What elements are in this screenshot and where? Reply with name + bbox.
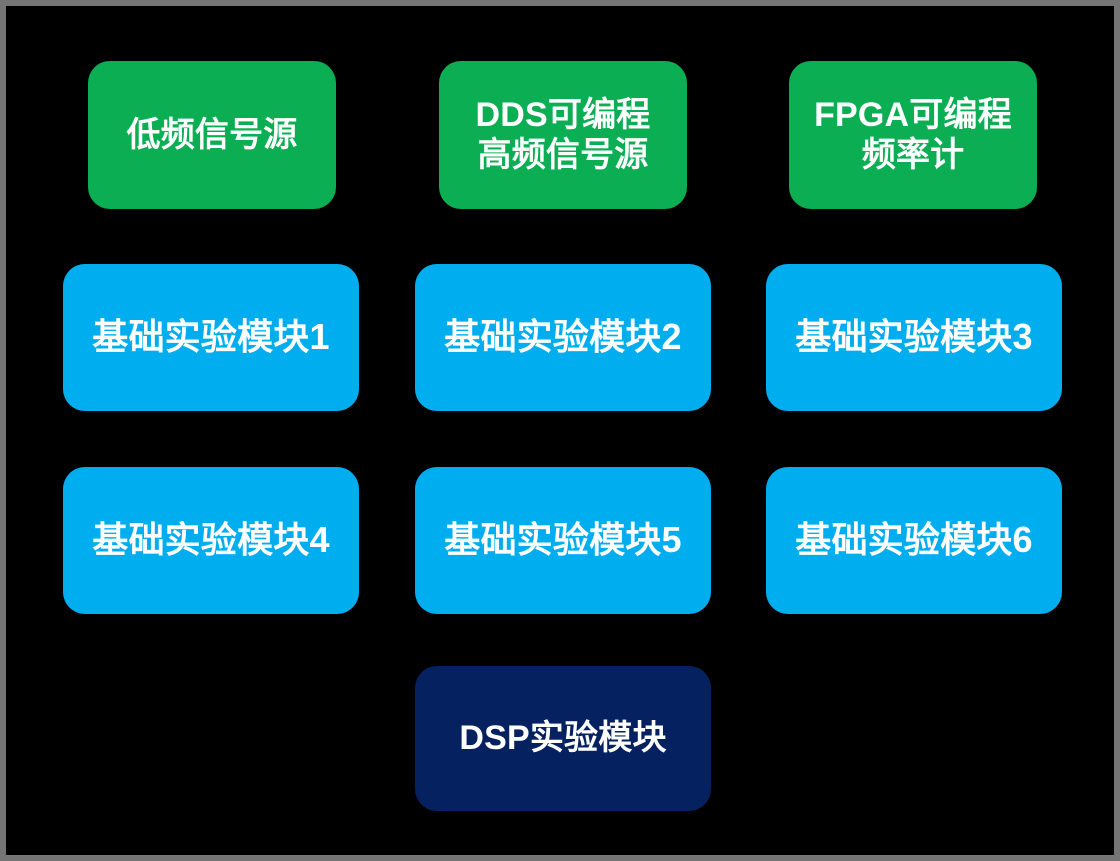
node-basic-experiment-module-1[interactable]: 基础实验模块1 (63, 264, 359, 411)
node-dsp-experiment-module[interactable]: DSP实验模块 (415, 666, 711, 811)
node-basic-experiment-module-3[interactable]: 基础实验模块3 (766, 264, 1062, 411)
diagram-canvas: 低频信号源 DDS可编程 高频信号源 FPGA可编程 频率计 基础实验模块1 基… (0, 0, 1120, 861)
node-dds-programmable-high-frequency-signal-source[interactable]: DDS可编程 高频信号源 (439, 61, 687, 209)
node-basic-experiment-module-6[interactable]: 基础实验模块6 (766, 467, 1062, 614)
node-basic-experiment-module-5[interactable]: 基础实验模块5 (415, 467, 711, 614)
node-low-frequency-signal-source[interactable]: 低频信号源 (88, 61, 336, 209)
node-fpga-programmable-frequency-counter[interactable]: FPGA可编程 频率计 (789, 61, 1037, 209)
node-basic-experiment-module-4[interactable]: 基础实验模块4 (63, 467, 359, 614)
node-basic-experiment-module-2[interactable]: 基础实验模块2 (415, 264, 711, 411)
